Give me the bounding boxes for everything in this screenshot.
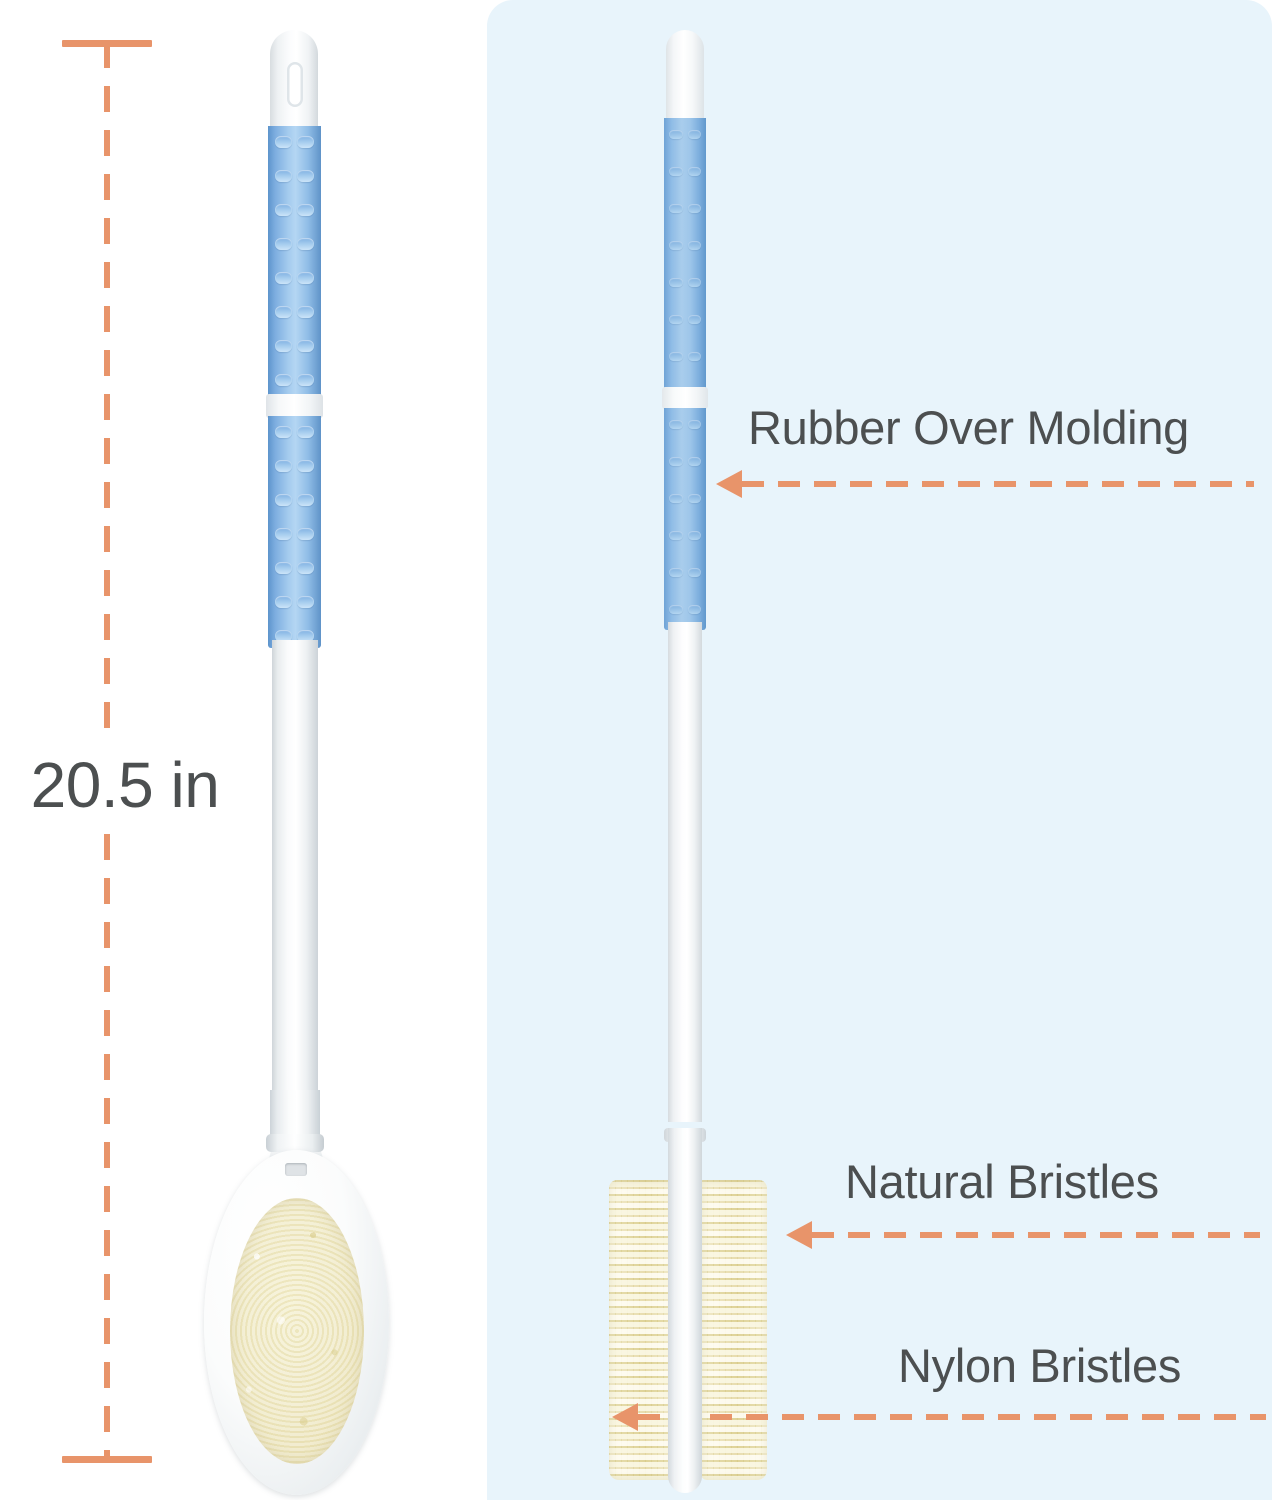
callout-arrow-line [638, 1414, 1266, 1420]
bristle-bank-right [701, 1180, 767, 1480]
callout-label: Rubber Over Molding [748, 404, 1189, 451]
brush-head-side [592, 1180, 792, 1500]
handle-seam-band-side [662, 387, 708, 409]
grip-ridges [664, 408, 706, 630]
head-tab-detail [285, 1163, 307, 1176]
callout-arrow-head [716, 470, 742, 498]
bristle-bank-left [609, 1180, 675, 1480]
dimension-cap-bottom [62, 1456, 152, 1463]
hang-hole [287, 62, 303, 107]
product-infographic: 20.5 in [0, 0, 1272, 1500]
callout-label: Nylon Bristles [898, 1342, 1181, 1389]
bath-brush-front-view [186, 30, 436, 1490]
handle-shaft [272, 640, 318, 1122]
handle-shaft-side [668, 622, 702, 1122]
brush-head-spine [668, 1128, 702, 1493]
rubber-grip-lower-side [664, 408, 706, 630]
callout-label: Natural Bristles [845, 1158, 1159, 1205]
callout-arrow-head [612, 1403, 638, 1431]
bath-brush-side-view [592, 30, 792, 1490]
handle-top-cap-side [666, 30, 704, 125]
rubber-grip-upper-side [664, 118, 706, 390]
grip-ridges [268, 126, 321, 398]
rubber-grip-lower [268, 416, 321, 648]
callout-arrow-line [812, 1232, 1260, 1238]
grip-ridges [268, 416, 321, 648]
grip-ridges [664, 118, 706, 390]
bristle-field-front [230, 1198, 364, 1464]
handle-seam-band [266, 394, 323, 418]
callout-arrow-head [786, 1221, 812, 1249]
rubber-grip-upper [268, 126, 321, 398]
callout-arrow-line [742, 481, 1254, 487]
